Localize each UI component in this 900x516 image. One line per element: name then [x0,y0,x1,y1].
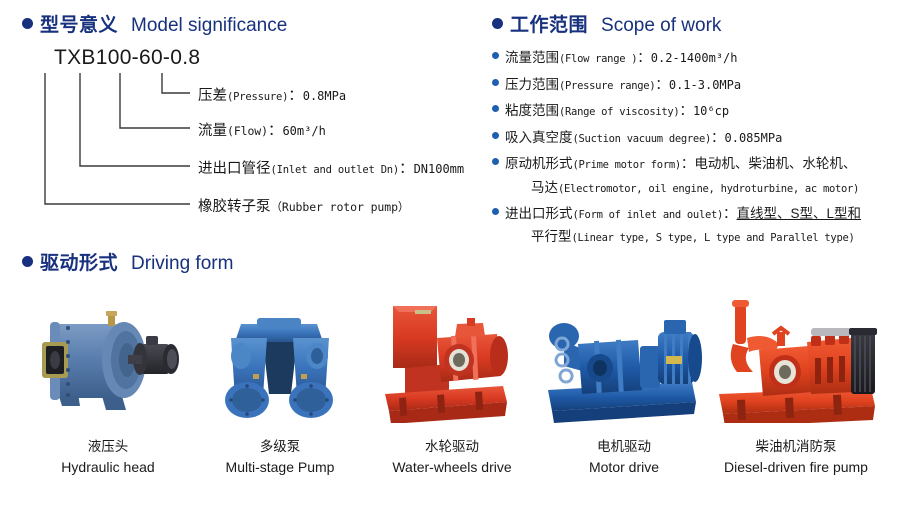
product-card-hydraulic-head: 液压头 Hydraulic head [22,293,194,477]
model-label-pressure: 压差(Pressure)：0.8MPa [198,84,346,105]
product-card-diesel-driven-fire-pump: 柴油机消防泵 Diesel-driven fire pump [710,293,882,477]
list-bullet-icon [492,132,499,139]
spec-item-prime-motor-form: 原动机形式(Prime motor form)：电动机、柴油机、水轮机、 马达(… [492,153,892,197]
heading-title-cn: 型号意义 [40,10,118,37]
spec-item-flow-range: 流量范围(Flow range )：0.2-1400m³/h [492,47,892,68]
spec-item-viscosity-range: 粘度范围(Range of viscosity)：10⁶cp [492,100,892,121]
hydraulic-head-pump-illustration [28,298,188,423]
product-photo-diesel-driven-fire-pump [710,293,882,423]
heading-bullet-icon [492,18,503,29]
product-card-motor-drive: 电机驱动 Motor drive [538,293,710,477]
heading-title-cn: 驱动形式 [40,248,118,275]
driving-form-section: 驱动形式 Driving form [22,248,882,477]
spec-item-pressure-range: 压力范围(Pressure range)：0.1-3.0MPa [492,74,892,95]
heading-bullet-icon [22,256,33,267]
product-gallery: 液压头 Hydraulic head [22,293,882,477]
product-caption-hydraulic-head: 液压头 Hydraulic head [22,437,194,477]
driving-form-heading: 驱动形式 Driving form [22,248,882,275]
product-photo-motor-drive [538,293,710,423]
heading-title-en: Driving form [131,253,233,275]
model-label-rubber-rotor-pump: 橡胶转子泵（Rubber rotor pump） [198,195,409,216]
list-bullet-icon [492,52,499,59]
product-photo-multi-stage-pump [194,293,366,423]
spec-item-suction-vacuum-degree: 吸入真空度(Suction vacuum degree)：0.085MPa [492,127,892,148]
product-card-multi-stage-pump: 多级泵 Multi-stage Pump [194,293,366,477]
heading-title-en: Scope of work [601,15,721,37]
product-caption-multi-stage-pump: 多级泵 Multi-stage Pump [194,437,366,477]
model-significance-section: 型号意义 Model significance TXB100-60-0.8 压差… [22,10,492,211]
scope-of-work-section: 工作范围 Scope of work 流量范围(Flow range )：0.2… [492,10,892,253]
model-leader-diagram: 压差(Pressure)：0.8MPa 流量(Flow)：60m³/h 进出口管… [22,71,492,211]
motor-drive-pump-illustration [542,298,707,423]
model-label-inlet-outlet-dn: 进出口管径(Inlet and outlet Dn)：DN100mm [198,157,464,178]
product-photo-hydraulic-head [22,293,194,423]
water-wheels-drive-illustration [375,298,530,423]
product-photo-water-wheels-drive [366,293,538,423]
scope-of-work-heading: 工作范围 Scope of work [492,10,892,37]
product-caption-diesel-driven-fire-pump: 柴油机消防泵 Diesel-driven fire pump [710,437,882,477]
product-caption-water-wheels-drive: 水轮驱动 Water-wheels drive [366,437,538,477]
list-bullet-icon [492,208,499,215]
product-caption-motor-drive: 电机驱动 Motor drive [538,437,710,477]
heading-title-cn: 工作范围 [510,10,588,37]
multi-stage-pump-illustration [205,298,355,423]
model-code: TXB100-60-0.8 [54,46,492,70]
heading-bullet-icon [22,18,33,29]
scope-spec-list: 流量范围(Flow range )：0.2-1400m³/h 压力范围(Pres… [492,47,892,247]
list-bullet-icon [492,158,499,165]
spec-item-inlet-outlet-form: 进出口形式(Form of inlet and oulet)：直线型、S型、L型… [492,203,892,247]
model-significance-heading: 型号意义 Model significance [22,10,492,37]
list-bullet-icon [492,105,499,112]
list-bullet-icon [492,79,499,86]
heading-title-en: Model significance [131,15,287,37]
model-label-flow: 流量(Flow)：60m³/h [198,119,326,140]
product-card-water-wheels-drive: 水轮驱动 Water-wheels drive [366,293,538,477]
diesel-fire-pump-illustration [711,298,881,423]
